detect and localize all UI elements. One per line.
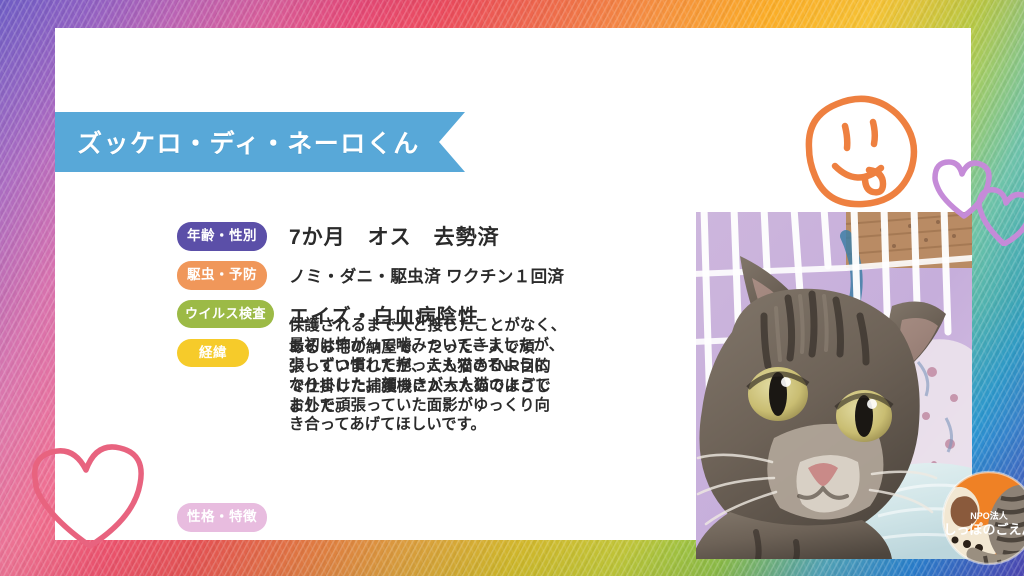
table-row: 年齢・性別 7か月 オス 去勢済 xyxy=(177,220,632,251)
badge-deworming: 駆虫・予防 xyxy=(177,261,267,290)
badge-cell: 駆虫・予防 xyxy=(177,259,289,290)
badge-history: 経緯 xyxy=(177,339,249,368)
title-ribbon: ズッケロ・ディ・ネーロくん xyxy=(55,112,465,172)
badge-personality: 性格・特徴 xyxy=(177,503,267,532)
white-card: ズッケロ・ディ・ネーロくん 年齢・性別 7か月 オス 去勢済 駆虫・予防 ノミ・… xyxy=(55,28,971,540)
badge-cell: 経緯 xyxy=(177,337,289,368)
table-row: 駆虫・予防 ノミ・ダニ・駆虫済 ワクチン１回済 xyxy=(177,259,632,290)
value-deworming: ノミ・ダニ・駆虫済 ワクチン１回済 xyxy=(289,259,632,287)
info-table: 年齢・性別 7か月 オス 去勢済 駆虫・予防 ノミ・ダニ・駆虫済 ワクチン１回済… xyxy=(177,220,632,456)
badge-virus-test: ウイルス検査 xyxy=(177,300,274,328)
heart-icon xyxy=(12,432,147,567)
logo-line1: NPO法人 xyxy=(970,510,1009,521)
table-row: 性格・特徴 保護されるまで人と接したことがなく、 最初は怖がって噛みついてきまし… xyxy=(177,419,632,448)
badge-age-gender: 年齢・性別 xyxy=(177,222,267,251)
heart-icon xyxy=(927,156,1024,246)
logo-line2: しっぽのごえん xyxy=(943,522,1024,537)
organization-logo: NPO法人 しっぽのごえん xyxy=(939,468,1024,568)
poster-canvas: ズッケロ・ディ・ネーロくん 年齢・性別 7か月 オス 去勢済 駆虫・予防 ノミ・… xyxy=(0,0,1024,576)
value-personality: 保護されるまで人と接したことがなく、 最初は怖がって噛みついてきましたが、 少し… xyxy=(289,315,632,435)
value-age-gender: 7か月 オス 去勢済 xyxy=(289,220,632,251)
badge-cell: ウイルス検査 xyxy=(177,298,289,328)
badge-cell: 年齢・性別 xyxy=(177,220,289,251)
badge-cell: 性格・特徴 xyxy=(177,503,289,532)
smiley-face-icon xyxy=(797,90,927,215)
cat-photo xyxy=(696,212,972,559)
page-title: ズッケロ・ディ・ネーロくん xyxy=(55,124,420,160)
